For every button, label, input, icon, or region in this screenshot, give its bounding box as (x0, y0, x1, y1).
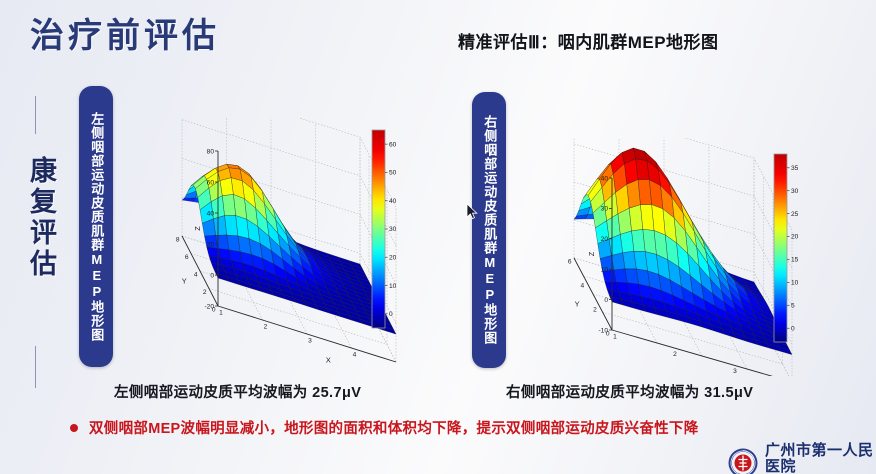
svg-text:2: 2 (203, 289, 207, 296)
svg-text:0: 0 (606, 331, 610, 338)
summary-bullet-text: 双侧咽部MEP波幅明显减小，地形图的面积和体积均下降，提示双侧咽部运动皮质兴奋性… (89, 417, 699, 438)
svg-text:3: 3 (308, 338, 312, 345)
svg-text:6: 6 (568, 259, 572, 266)
left-panel-caption: 左侧咽部运动皮质平均波幅为 25.7μV (114, 381, 361, 402)
mouse-pointer-icon (466, 203, 478, 220)
svg-text:40: 40 (389, 198, 397, 205)
left-panel-vertical-label: 左侧咽部运动皮质肌群MEP地形图 (79, 86, 113, 367)
svg-text:3: 3 (733, 368, 737, 375)
hospital-logo: 广州市第一人民医院 GUANGZHOU FIRST PEOPLE'S HOSPI… (728, 443, 876, 474)
right-plot-svg: -1001020304012340246ZXY05101520253035 (512, 138, 842, 376)
svg-text:60: 60 (389, 141, 397, 148)
page-title: 治疗前评估 (30, 8, 220, 57)
svg-text:5: 5 (397, 366, 401, 367)
right-panel-caption: 右侧咽部运动皮质平均波幅为 31.5μV (506, 381, 753, 402)
svg-text:4: 4 (580, 283, 584, 290)
svg-text:0: 0 (791, 325, 795, 332)
svg-text:20: 20 (207, 241, 215, 248)
svg-text:4: 4 (353, 352, 357, 359)
svg-text:2: 2 (264, 324, 268, 331)
svg-text:0: 0 (212, 307, 216, 314)
rail-label: 康复评估 (14, 156, 58, 280)
svg-text:30: 30 (389, 226, 397, 233)
svg-text:1: 1 (219, 310, 223, 317)
right-mep-surface-plot: -1001020304012340246ZXY05101520253035 (512, 138, 842, 376)
svg-text:40: 40 (207, 210, 215, 217)
svg-text:6: 6 (185, 254, 189, 261)
svg-text:0: 0 (210, 272, 214, 279)
svg-text:0: 0 (604, 297, 608, 304)
svg-text:20: 20 (791, 234, 799, 241)
section-title: 精准评估Ⅲ：咽内肌群MEP地形图 (458, 28, 719, 53)
slide-root: 治疗前评估 精准评估Ⅲ：咽内肌群MEP地形图 康复评估 左侧咽部运动皮质肌群ME… (0, 0, 876, 474)
hospital-seal-icon (728, 448, 758, 474)
svg-text:8: 8 (176, 237, 180, 244)
svg-text:15: 15 (791, 257, 799, 264)
hospital-name-block: 广州市第一人民医院 GUANGZHOU FIRST PEOPLE'S HOSPI… (765, 443, 876, 474)
svg-text:0: 0 (389, 311, 393, 318)
svg-text:35: 35 (791, 165, 799, 172)
svg-text:30: 30 (791, 188, 799, 195)
svg-text:1: 1 (613, 334, 617, 341)
svg-text:30: 30 (601, 206, 609, 213)
rail-divider-top (35, 96, 36, 134)
svg-text:2: 2 (593, 307, 597, 314)
left-plot-svg: -200204060801234502468ZXY0102030405060 (126, 118, 426, 366)
svg-text:X: X (326, 356, 331, 365)
svg-text:80: 80 (207, 148, 215, 155)
svg-text:Z: Z (587, 251, 596, 256)
svg-text:Y: Y (182, 277, 187, 286)
rail-divider-bottom (35, 346, 36, 388)
svg-text:4: 4 (194, 272, 198, 279)
svg-text:25: 25 (791, 211, 799, 218)
svg-text:Z: Z (193, 226, 202, 231)
svg-text:Y: Y (575, 299, 580, 308)
svg-text:50: 50 (389, 170, 397, 177)
bullet-dot-icon (70, 424, 78, 432)
svg-text:60: 60 (207, 179, 215, 186)
svg-text:2: 2 (673, 351, 677, 358)
svg-text:10: 10 (601, 267, 609, 274)
summary-bullet: 双侧咽部MEP波幅明显减小，地形图的面积和体积均下降，提示双侧咽部运动皮质兴奋性… (70, 417, 699, 438)
svg-text:10: 10 (389, 283, 397, 290)
right-panel-vertical-label: 右侧咽部运动皮质肌群MEP地形图 (472, 92, 506, 368)
hospital-name-cn: 广州市第一人民医院 (765, 443, 876, 474)
svg-text:10: 10 (791, 280, 799, 287)
left-mep-surface-plot: -200204060801234502468ZXY0102030405060 (126, 118, 426, 366)
svg-text:20: 20 (389, 254, 397, 261)
left-rail: 康复评估 (0, 96, 72, 396)
svg-text:40: 40 (601, 175, 609, 182)
svg-text:5: 5 (791, 303, 795, 310)
svg-text:20: 20 (601, 236, 609, 243)
